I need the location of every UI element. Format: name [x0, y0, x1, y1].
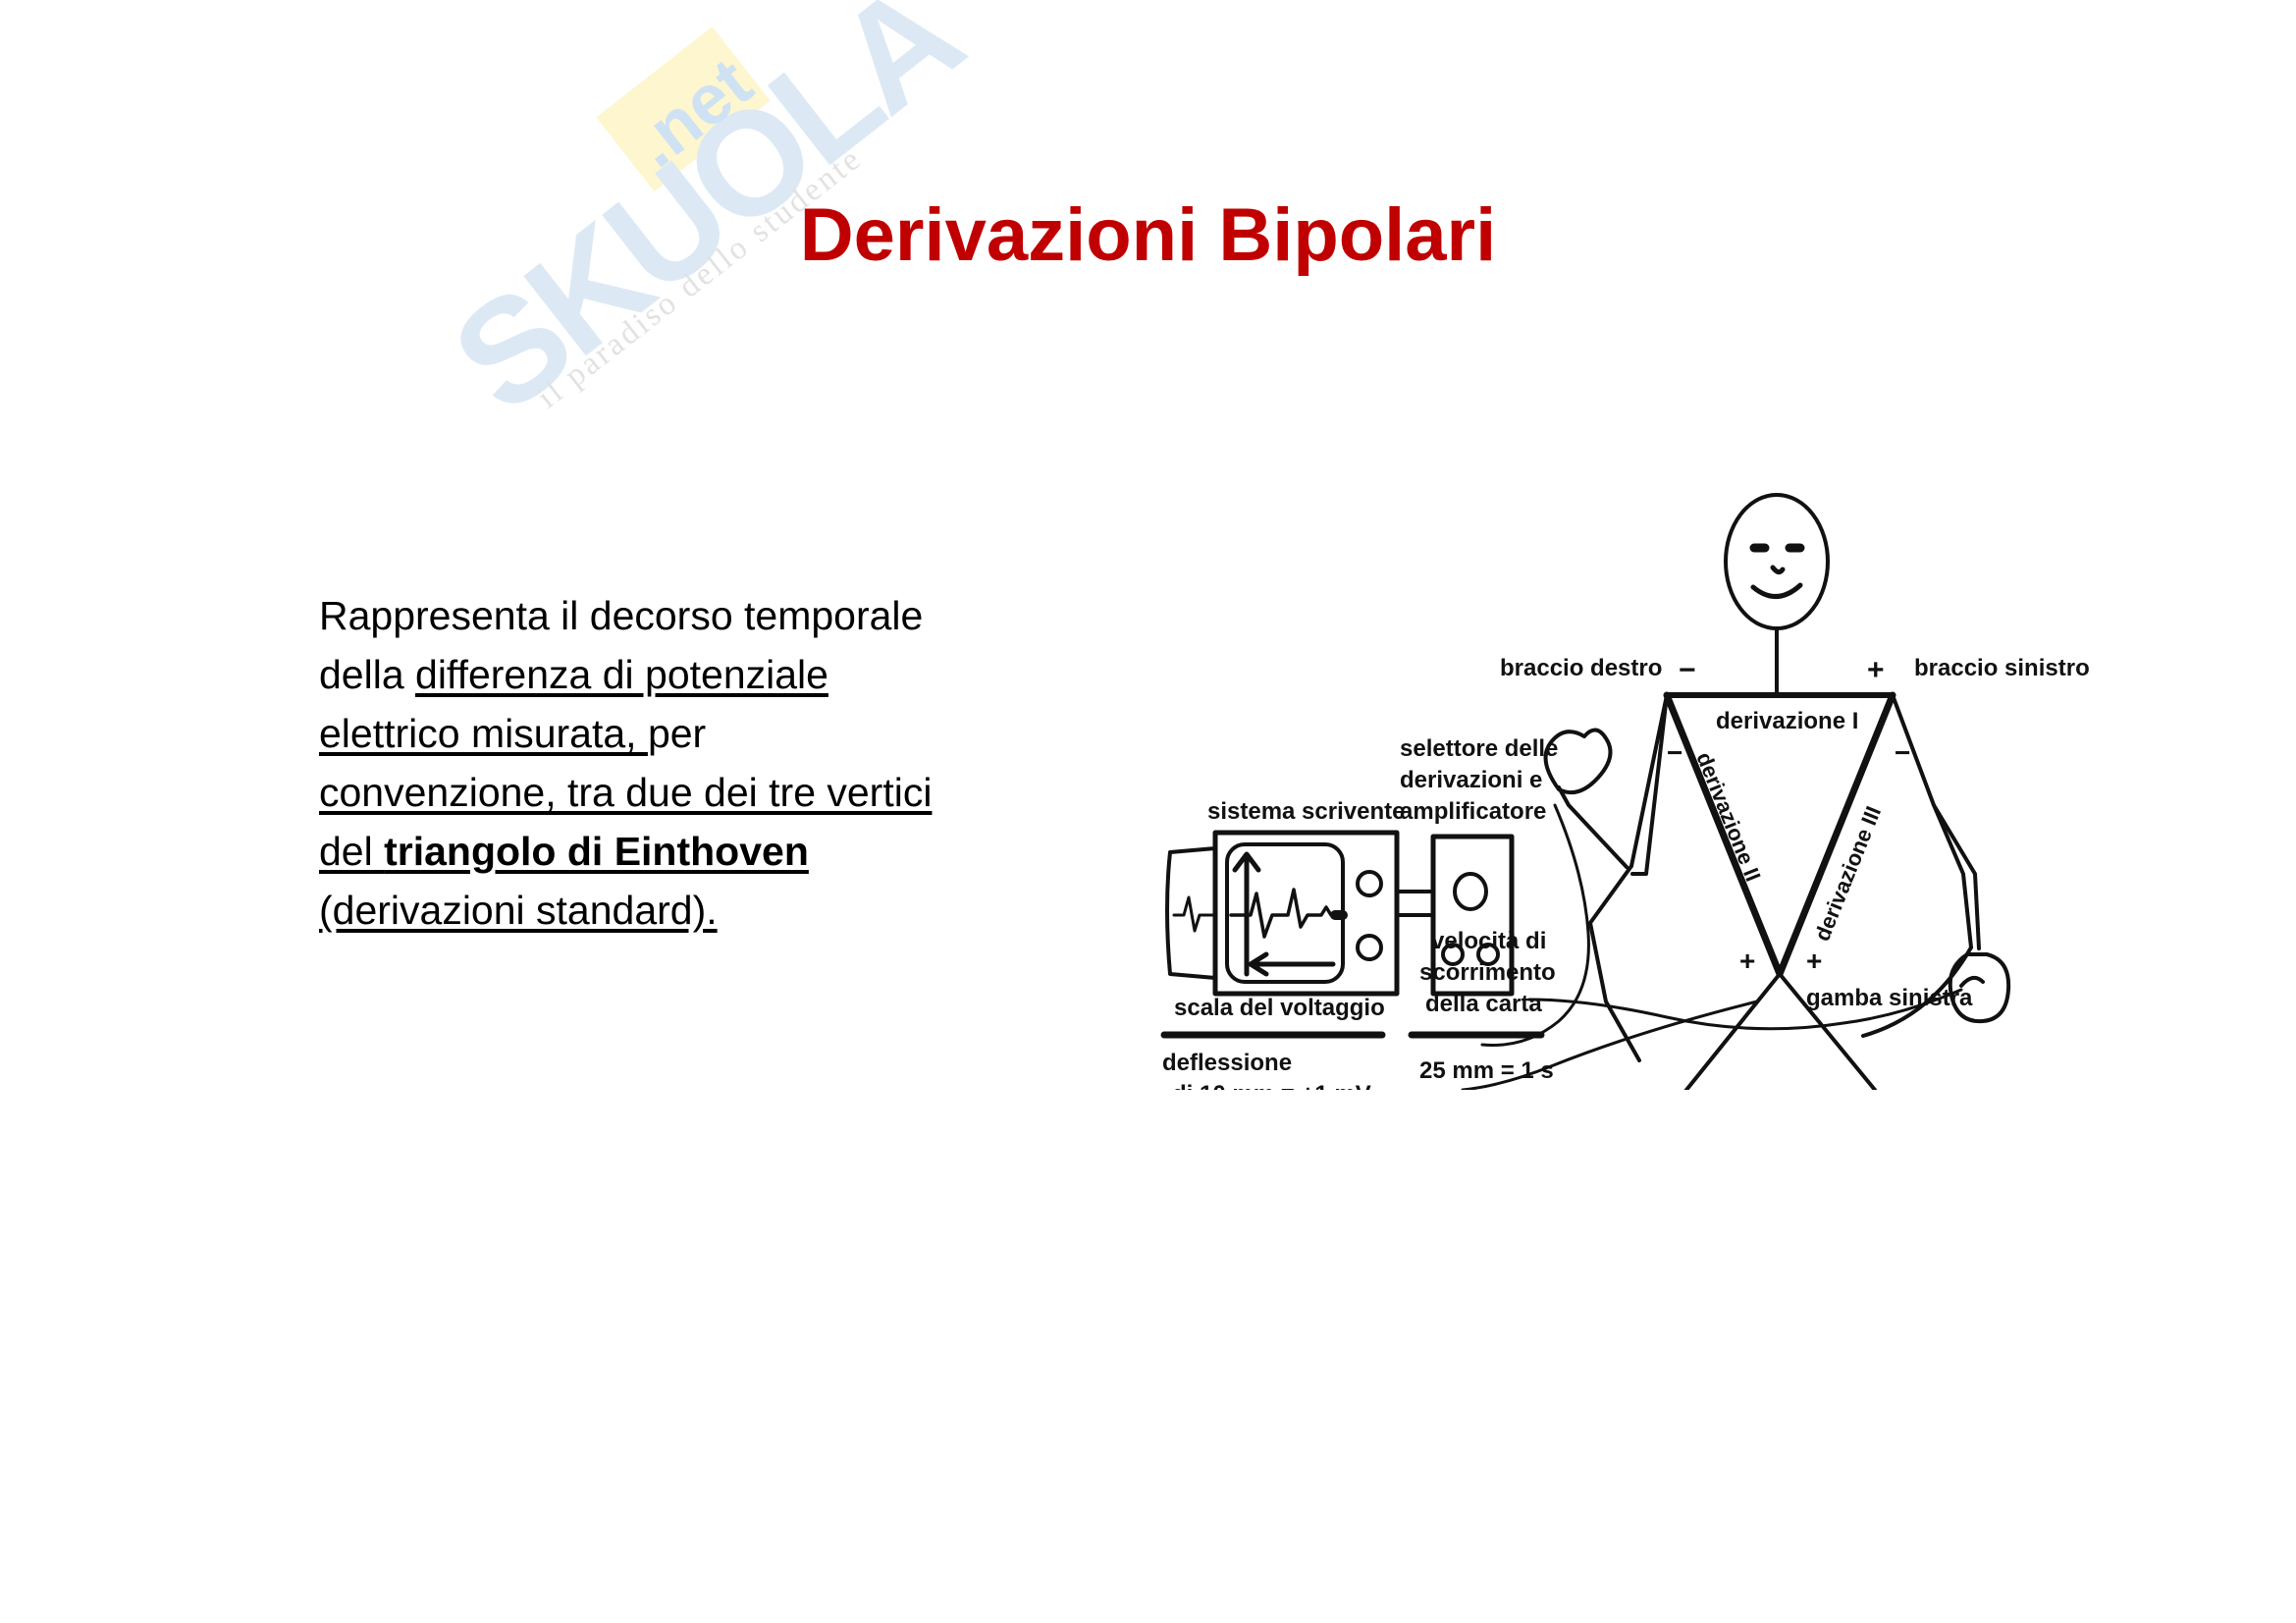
- recorder-left-arrow-icon: [1251, 954, 1333, 974]
- label-sistema-scrivente: sistema scrivente: [1207, 798, 1405, 825]
- watermark-banner: [596, 27, 770, 191]
- slide-canvas: SKUOLA .net il paradiso dello studente D…: [0, 0, 2296, 1623]
- figure-nose-icon: [1773, 568, 1783, 572]
- body-line-4-underlined: convenzione, tra due dei tre vertici: [319, 770, 932, 815]
- label-selettore-2: derivazioni e: [1400, 767, 1542, 793]
- label-derivazione-2: derivazione II: [1691, 749, 1765, 886]
- recorder-knob-bottom: [1358, 936, 1381, 959]
- label-derivazione-1: derivazione I: [1716, 708, 1858, 734]
- polarity-d3-minus: −: [1895, 737, 1910, 768]
- label-braccio-sinistro: braccio sinistro: [1914, 655, 2090, 681]
- skuola-watermark: SKUOLA .net il paradiso dello studente: [422, 10, 874, 363]
- body-line-3-underlined: elettrico misurata,: [319, 711, 648, 756]
- paper-strip-ecg: [1174, 897, 1215, 931]
- polarity-d2-minus: −: [1667, 737, 1682, 768]
- figure-torso-right: [1893, 695, 1971, 947]
- label-scala-voltaggio: scala del voltaggio: [1174, 995, 1385, 1021]
- label-velocita-3: della carta: [1425, 991, 1542, 1017]
- body-line-5: del triangolo di Einthoven: [319, 822, 1095, 881]
- label-gamba-sinistra-1: gamba sinistra: [1806, 985, 1973, 1011]
- figure-arm-left: [1934, 805, 1979, 948]
- label-selettore-3: amplificatore: [1400, 798, 1546, 825]
- body-line-2-underlined: differenza di potenziale: [415, 652, 828, 697]
- body-line-1-text: Rappresenta il decorso temporale: [319, 593, 923, 638]
- body-line-1: Rappresenta il decorso temporale: [319, 586, 1095, 645]
- label-velocita-value: 25 mm = 1 s: [1419, 1057, 1554, 1084]
- body-line-2: della differenza di potenziale: [319, 645, 1095, 704]
- einthoven-triangle-figure: braccio destro braccio sinistro − + deri…: [1129, 412, 2169, 1090]
- figure-torso-body-left: [1590, 866, 1639, 1060]
- label-deflessione-1: deflessione: [1162, 1050, 1292, 1076]
- label-velocita-2: scorrimento: [1419, 959, 1556, 986]
- watermark-domain: .net: [618, 42, 767, 183]
- body-line-3-plain: per: [648, 711, 706, 756]
- label-selettore-1: selettore delle: [1400, 735, 1558, 762]
- body-line-3: elettrico misurata, per: [319, 704, 1095, 763]
- polarity-d3-plus: +: [1806, 946, 1822, 976]
- figure-arm-right: [1559, 787, 1627, 867]
- body-line-6-text: (derivazioni standard).: [319, 888, 718, 933]
- amplifier-knob-large: [1455, 874, 1486, 909]
- figure-leg-left: [1671, 974, 1780, 1090]
- body-line-6: (derivazioni standard).: [319, 881, 1095, 940]
- body-line-4: convenzione, tra due dei tre vertici: [319, 763, 1095, 822]
- polarity-d2-plus: +: [1739, 946, 1755, 976]
- page-title: Derivazioni Bipolari: [0, 192, 2296, 278]
- watermark-tagline: il paradiso dello studente: [531, 140, 870, 416]
- figure-head-icon: [1726, 495, 1828, 628]
- body-line-5-bold: triangolo di Einthoven: [384, 829, 809, 874]
- polarity-left-arm: +: [1867, 654, 1885, 686]
- body-line-2-plain: della: [319, 652, 415, 697]
- recorder-knob-top: [1358, 872, 1381, 895]
- label-braccio-destro: braccio destro: [1500, 655, 1662, 681]
- label-deflessione-2: di 10 mm = +1 mV: [1172, 1081, 1371, 1090]
- polarity-right-arm: −: [1679, 654, 1696, 686]
- label-velocita-1: velocità di: [1431, 928, 1546, 954]
- figure-smile-icon: [1753, 585, 1800, 597]
- body-line-5-plain: del: [319, 829, 384, 874]
- body-paragraph: Rappresenta il decorso temporale della d…: [319, 586, 1095, 940]
